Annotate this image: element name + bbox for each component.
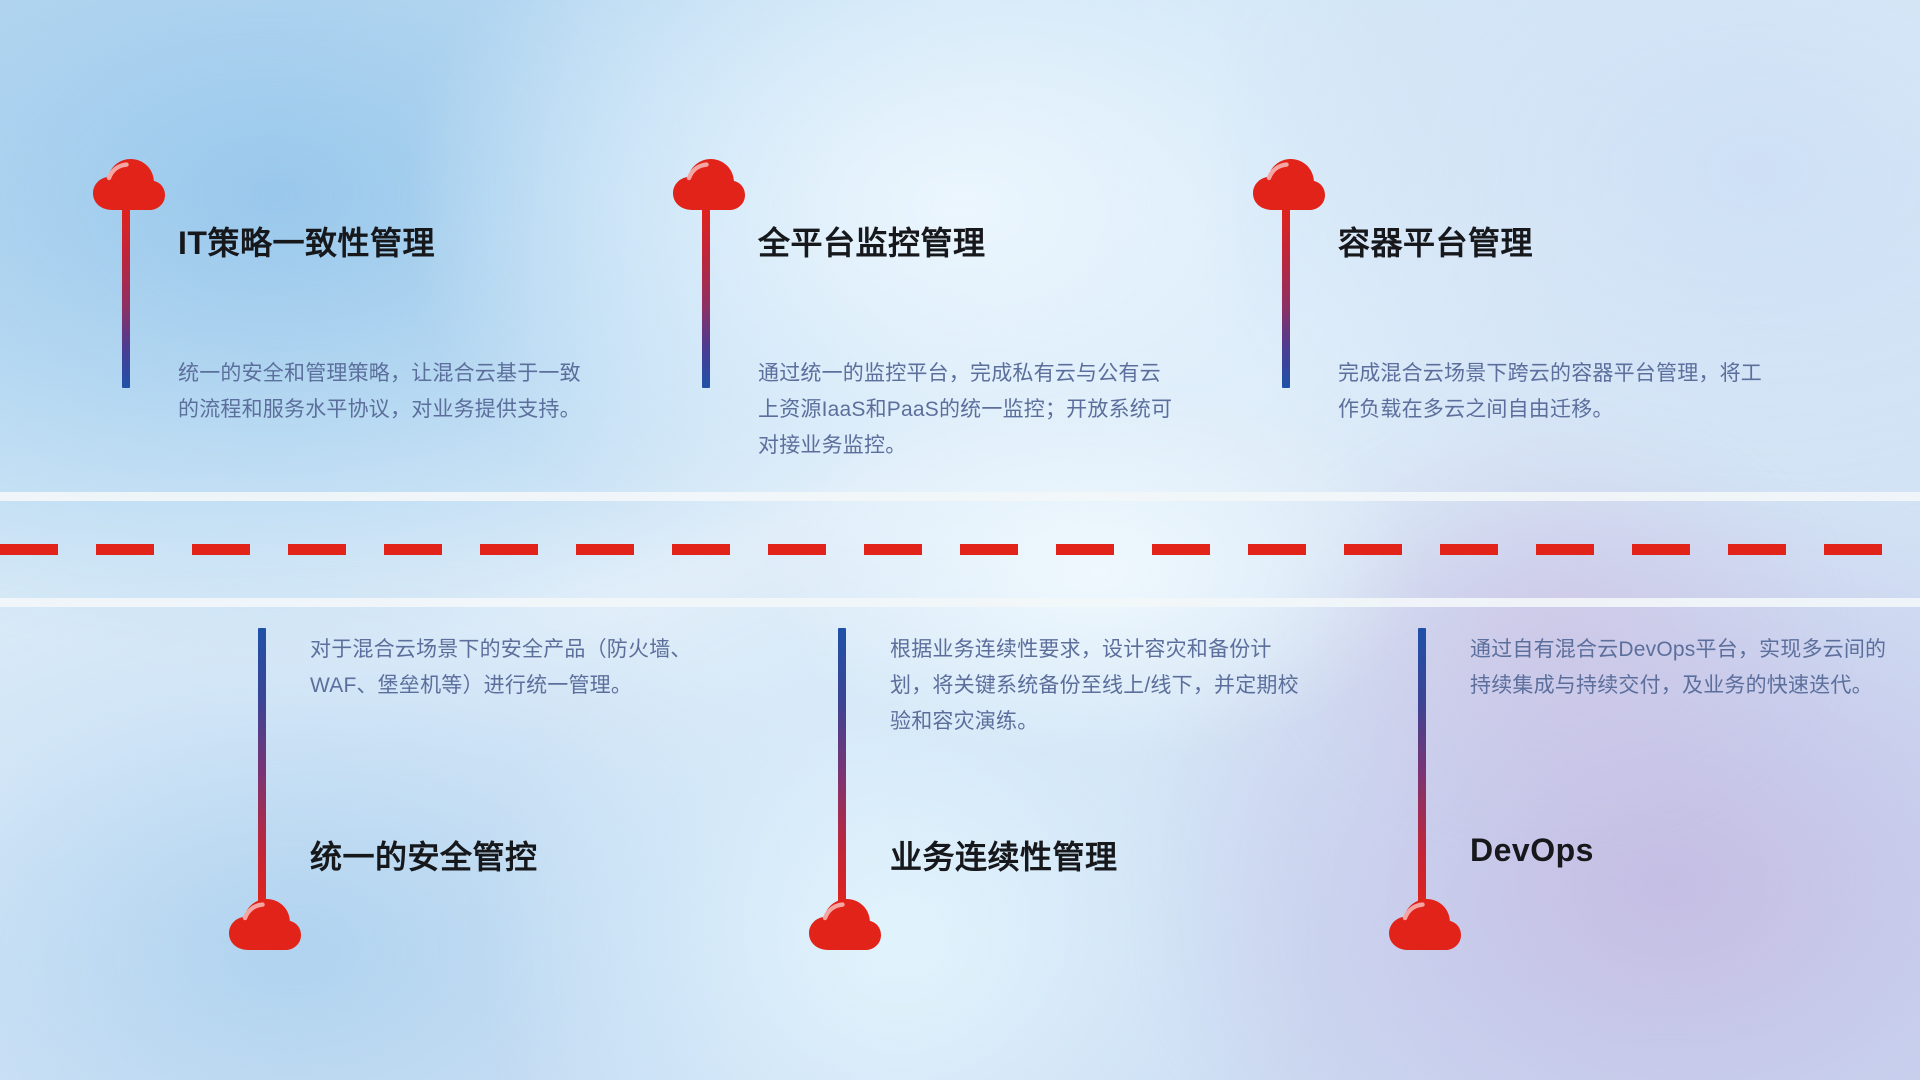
- connector-line: [1418, 628, 1426, 908]
- item-description: 通过自有混合云DevOps平台，实现多云间的持续集成与持续交付，及业务的快速迭代…: [1470, 632, 1890, 704]
- connector-line: [838, 628, 846, 908]
- item-title: 容器平台管理: [1338, 218, 1533, 264]
- connector-line: [258, 628, 266, 908]
- connector-line: [122, 206, 130, 388]
- item-title: DevOps: [1470, 832, 1594, 869]
- infographic-canvas: IT策略一致性管理 统一的安全和管理策略，让混合云基于一致的流程和服务水平协议，…: [0, 0, 1920, 1080]
- item-description: 统一的安全和管理策略，让混合云基于一致的流程和服务水平协议，对业务提供支持。: [178, 356, 598, 428]
- item-title: 统一的安全管控: [310, 832, 538, 878]
- item-title: 全平台监控管理: [758, 218, 986, 264]
- connector-line: [702, 206, 710, 388]
- item-description: 完成混合云场景下跨云的容器平台管理，将工作负载在多云之间自由迁移。: [1338, 356, 1768, 428]
- connector-line: [1282, 206, 1290, 388]
- divider-rule-bottom: [0, 598, 1920, 607]
- item-description: 根据业务连续性要求，设计容灾和备份计划，将关键系统备份至线上/线下，并定期校验和…: [890, 632, 1310, 740]
- item-title: IT策略一致性管理: [178, 218, 435, 264]
- item-title: 业务连续性管理: [890, 832, 1118, 878]
- divider-rule-top: [0, 492, 1920, 501]
- item-description: 通过统一的监控平台，完成私有云与公有云上资源IaaS和PaaS的统一监控；开放系…: [758, 356, 1178, 464]
- item-description: 对于混合云场景下的安全产品（防火墙、WAF、堡垒机等）进行统一管理。: [310, 632, 730, 704]
- dashed-divider: [0, 544, 1920, 555]
